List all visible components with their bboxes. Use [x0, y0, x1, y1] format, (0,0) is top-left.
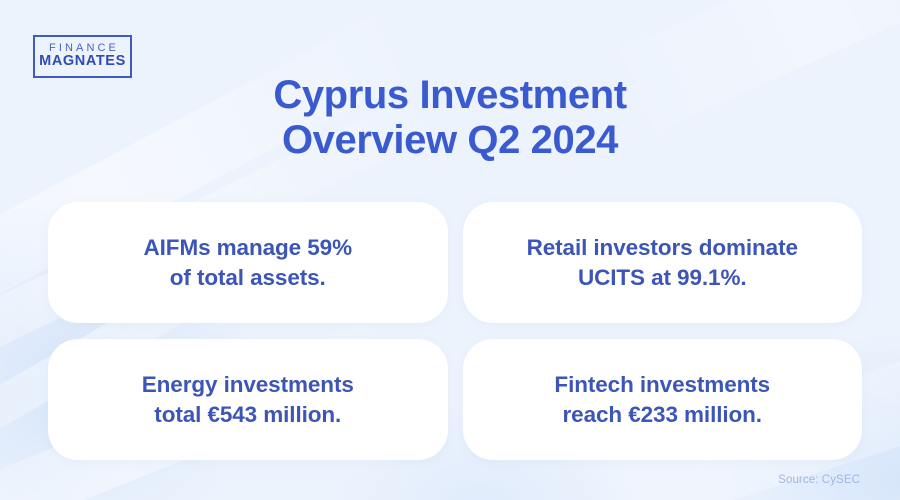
stat-card-aifm-assets: AIFMs manage 59% of total assets. [48, 202, 448, 323]
logo-bottom-word: MAGNATES [39, 54, 126, 70]
stat-card-grid: AIFMs manage 59% of total assets. Retail… [48, 202, 862, 460]
brand-logo: FINANCE MAGNATES [33, 35, 132, 78]
stat-card-fintech-investments: Fintech investments reach €233 million. [463, 339, 863, 460]
stat-card-line-1: Retail investors dominate [527, 233, 798, 262]
source-attribution: Source: CySEC [778, 474, 860, 486]
stat-card-line-1: AIFMs manage 59% [144, 233, 352, 262]
page-title-line-1: Cyprus Investment [0, 73, 900, 118]
infographic-canvas: FINANCE MAGNATES Cyprus Investment Overv… [0, 0, 900, 500]
page-title: Cyprus Investment Overview Q2 2024 [0, 73, 900, 163]
stat-card-line-1: Energy investments [142, 370, 354, 399]
stat-card-line-1: Fintech investments [554, 370, 770, 399]
stat-card-text: Energy investments total €543 million. [142, 370, 354, 429]
stat-card-line-2: of total assets. [144, 263, 352, 292]
stat-card-energy-investments: Energy investments total €543 million. [48, 339, 448, 460]
stat-card-line-2: total €543 million. [142, 400, 354, 429]
page-title-line-2: Overview Q2 2024 [0, 118, 900, 163]
stat-card-text: AIFMs manage 59% of total assets. [144, 233, 352, 292]
stat-card-text: Retail investors dominate UCITS at 99.1%… [527, 233, 798, 292]
stat-card-text: Fintech investments reach €233 million. [554, 370, 770, 429]
stat-card-retail-ucits: Retail investors dominate UCITS at 99.1%… [463, 202, 863, 323]
stat-card-line-2: reach €233 million. [554, 400, 770, 429]
stat-card-line-2: UCITS at 99.1%. [527, 263, 798, 292]
